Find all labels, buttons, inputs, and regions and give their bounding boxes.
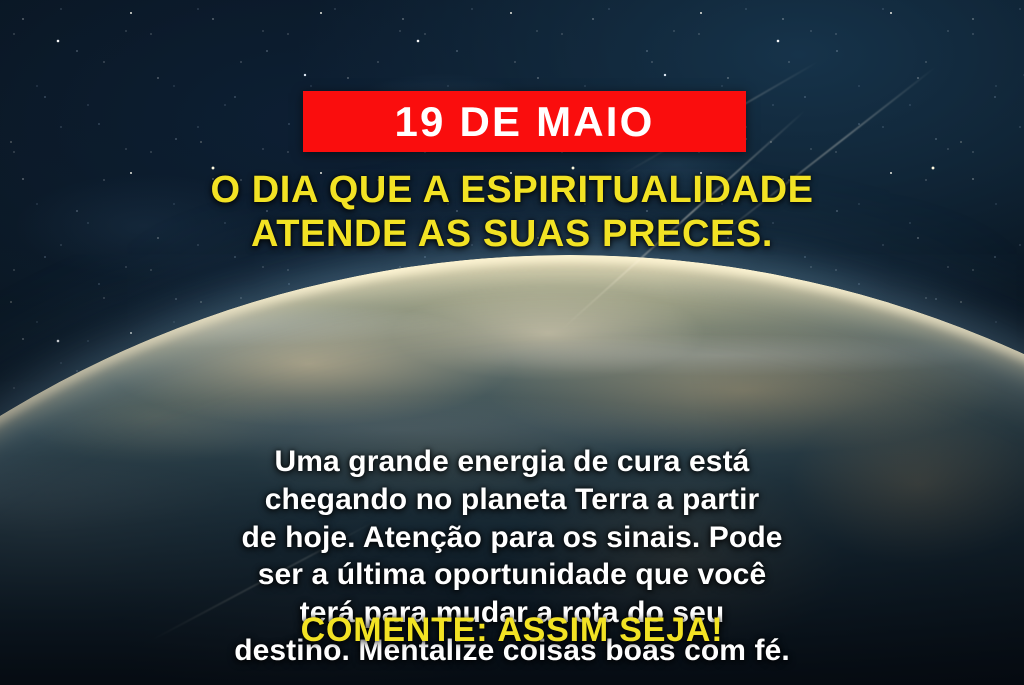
poster-canvas: 19 DE MAIO O DIA QUE A ESPIRITUALIDADE A… [0,0,1024,685]
call-to-action: COMENTE: ASSIM SEJA! [0,611,1024,650]
headline-line-2: ATENDE AS SUAS PRECES. [0,212,1024,256]
body-line-3: de hoje. Atenção para os sinais. Pode [0,519,1024,557]
call-to-action-label: COMENTE: ASSIM SEJA! [301,611,724,649]
date-banner: 19 DE MAIO [303,91,746,152]
headline-line-1: O DIA QUE A ESPIRITUALIDADE [0,168,1024,212]
date-banner-label: 19 DE MAIO [394,101,654,143]
body-line-1: Uma grande energia de cura está [0,443,1024,481]
body-line-2: chegando no planeta Terra a partir [0,481,1024,519]
headline: O DIA QUE A ESPIRITUALIDADE ATENDE AS SU… [0,168,1024,257]
poster-content: 19 DE MAIO O DIA QUE A ESPIRITUALIDADE A… [0,0,1024,685]
body-line-4: ser a última oportunidade que você [0,556,1024,594]
